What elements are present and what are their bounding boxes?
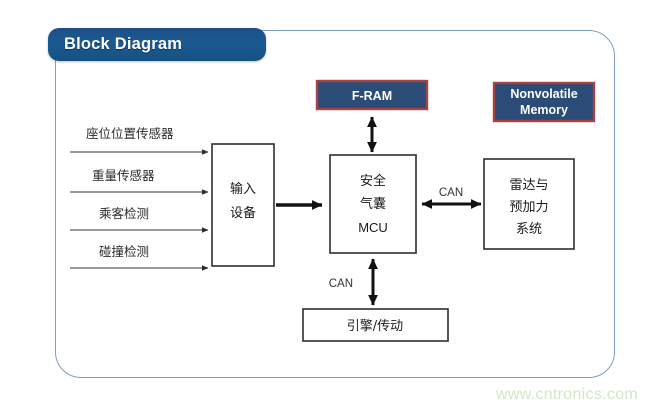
block-airbag-mcu-line-3: MCU bbox=[358, 220, 388, 235]
panel-title-text: Block Diagram bbox=[64, 35, 182, 54]
block-radar-system-line-2: 预加力 bbox=[509, 200, 548, 215]
input-label-2: 重量传感器 bbox=[92, 168, 155, 183]
block-airbag-mcu-line-1: 安全 bbox=[360, 173, 386, 189]
block-nonvolatile-memory-line-2: Memory bbox=[520, 103, 568, 117]
block-radar-system-line-3: 系统 bbox=[516, 222, 542, 237]
input-label-4: 碰撞检测 bbox=[99, 244, 149, 259]
block-fram-label: F-RAM bbox=[352, 89, 392, 103]
block-radar-system-line-1: 雷达与 bbox=[509, 178, 548, 193]
panel-title-tab: Block Diagram bbox=[48, 28, 266, 61]
can-label-engine: CAN bbox=[329, 278, 353, 290]
block-input-device-line-2: 设备 bbox=[230, 205, 256, 221]
block-nonvolatile-memory-line-1: Nonvolatile bbox=[510, 87, 577, 101]
block-input-device bbox=[212, 144, 274, 266]
input-label-1: 座位位置传感器 bbox=[86, 126, 174, 141]
input-label-3: 乘客检测 bbox=[99, 206, 149, 221]
diagram-canvas: 座位位置传感器 重量传感器 乘客检测 碰撞检测 输入 设备 F-RAM Nonv… bbox=[0, 0, 652, 420]
can-label-radar: CAN bbox=[439, 187, 463, 199]
block-engine-label: 引擎/传动 bbox=[347, 319, 403, 334]
site-watermark: www.cntronics.com bbox=[496, 386, 638, 404]
block-diagram-page: Block Diagram 座位位置传感器 重量传感器 乘客检测 碰撞检测 输入… bbox=[0, 0, 652, 420]
block-airbag-mcu-line-2: 气囊 bbox=[360, 196, 386, 212]
block-input-device-line-1: 输入 bbox=[230, 181, 256, 197]
